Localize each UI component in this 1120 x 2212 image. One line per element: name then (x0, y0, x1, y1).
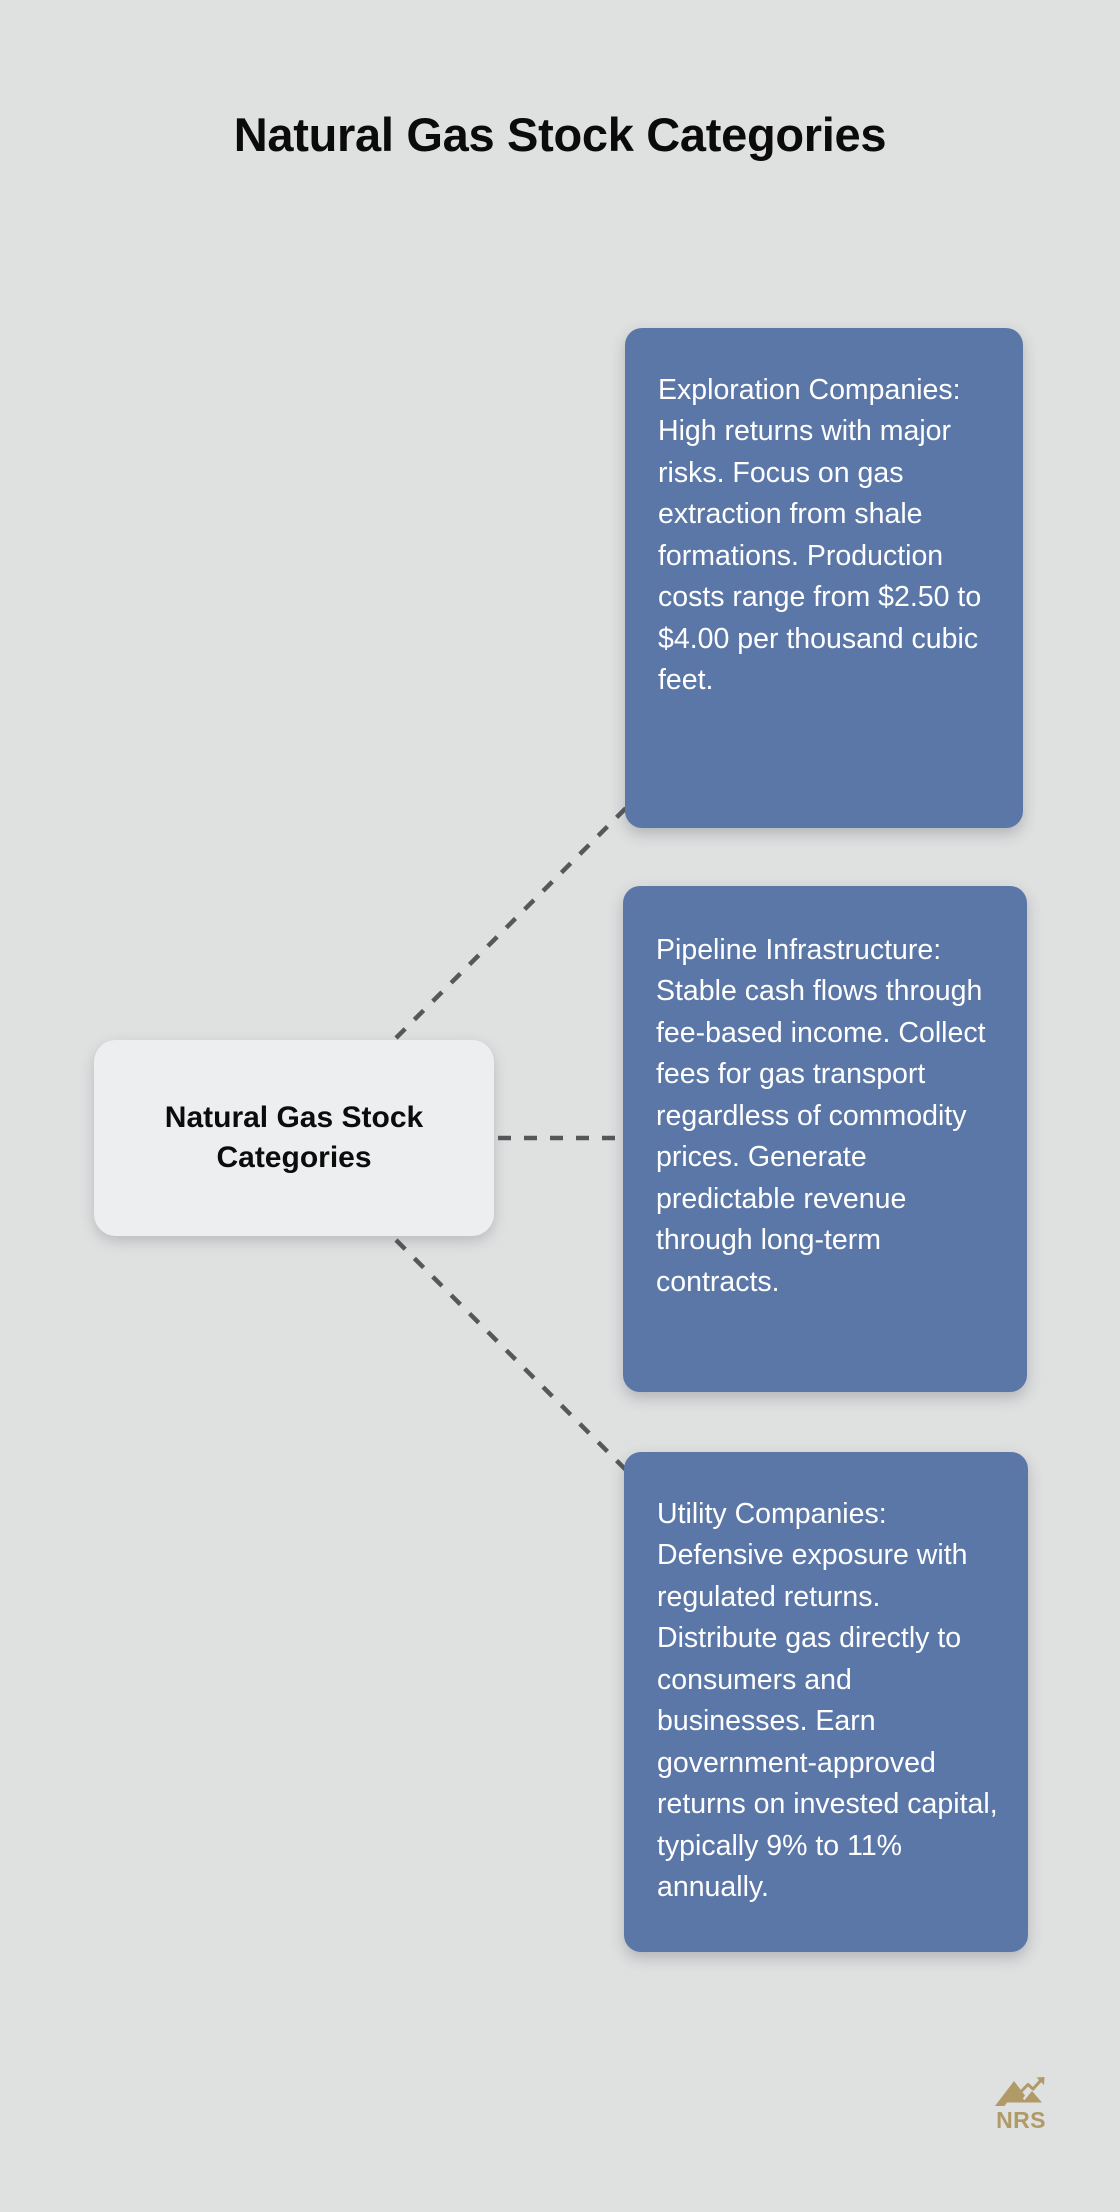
connector-to-exploration-companies (396, 806, 628, 1038)
branch-card-text: Utility Companies: Defensive exposure wi… (657, 1494, 1000, 1909)
branch-card-exploration-companies[interactable]: Exploration Companies: High returns with… (625, 328, 1023, 828)
center-node[interactable]: Natural Gas Stock Categories (94, 1040, 494, 1236)
mind-map-diagram: Natural Gas Stock Categories Exploration… (0, 0, 1120, 2212)
branch-card-utility-companies[interactable]: Utility Companies: Defensive exposure wi… (624, 1452, 1028, 1952)
mountain-growth-arrow-icon (992, 2072, 1050, 2110)
brand-logo: NRS (985, 2072, 1057, 2138)
connector-to-utility-companies (396, 1240, 630, 1474)
branch-card-pipeline-infrastructure[interactable]: Pipeline Infrastructure: Stable cash flo… (623, 886, 1027, 1392)
branch-card-text: Pipeline Infrastructure: Stable cash flo… (656, 930, 997, 1303)
branch-card-text: Exploration Companies: High returns with… (658, 370, 989, 702)
brand-logo-text: NRS (996, 2109, 1046, 2132)
center-node-label: Natural Gas Stock Categories (128, 1098, 460, 1177)
